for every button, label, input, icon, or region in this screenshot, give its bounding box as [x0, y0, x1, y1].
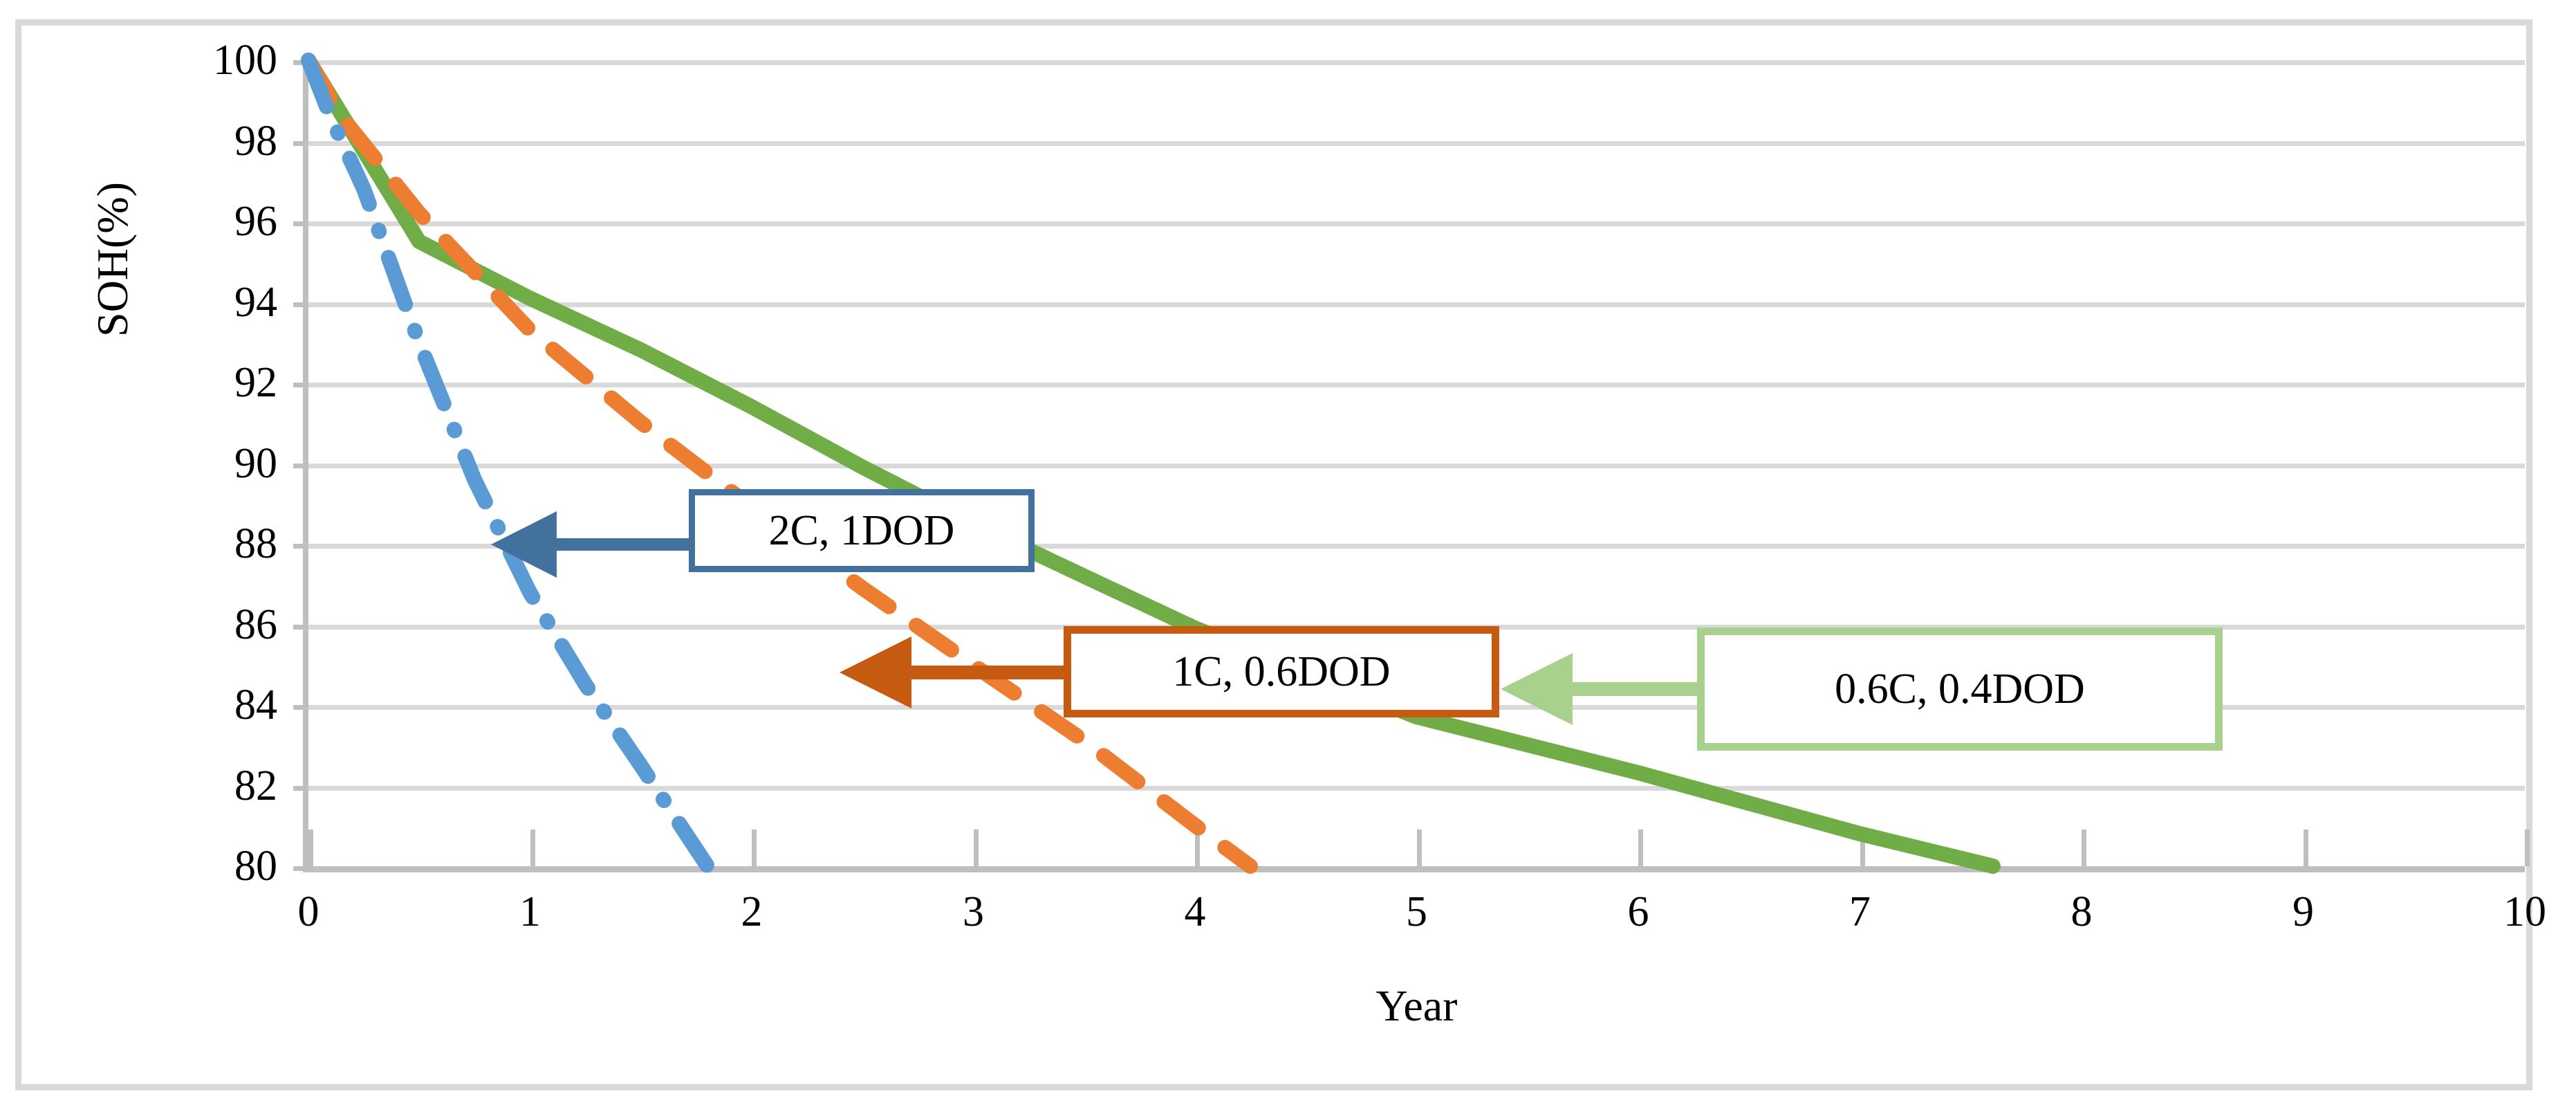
x-axis-title: Year	[308, 980, 2525, 1032]
xtick-label-9: 9	[2248, 890, 2359, 933]
xtick-label-10: 10	[2470, 890, 2576, 933]
callout-label-1c-06dod: 1C, 0.6DOD	[1172, 648, 1390, 697]
xtick-label-1: 1	[475, 890, 586, 933]
series-line-orange	[308, 60, 1250, 866]
series-line-blue	[308, 60, 707, 866]
xtick-10	[2525, 830, 2530, 866]
ytick-label-96: 96	[118, 200, 277, 243]
callout-arrow-green	[1484, 645, 1719, 733]
y-axis-line	[303, 60, 308, 866]
ytick-label-94: 94	[118, 281, 277, 324]
xtick-label-2: 2	[696, 890, 807, 933]
ytick-label-100: 100	[118, 39, 277, 82]
series-layer	[308, 60, 2525, 873]
y-axis-title: SOH(%)	[87, 60, 138, 337]
xtick-label-0: 0	[253, 890, 364, 933]
callout-arrow-orange	[822, 629, 1071, 716]
ytick-label-80: 80	[118, 845, 277, 888]
ytick-label-98: 98	[118, 120, 277, 163]
callout-box-2c-1dod[interactable]: 2C, 1DOD	[689, 489, 1035, 572]
ytick-label-86: 86	[118, 603, 277, 646]
callout-label-2c-1dod: 2C, 1DOD	[769, 506, 955, 556]
xtick-label-5: 5	[1362, 890, 1472, 933]
chart-outer-frame: 100 98 96 94 92 90 88 86 84 82 80 0	[15, 19, 2532, 1090]
ytick-label-84: 84	[118, 684, 277, 726]
ytick-label-92: 92	[118, 361, 277, 404]
xtick-label-4: 4	[1140, 890, 1250, 933]
ytick-label-88: 88	[118, 522, 277, 565]
plot-area: 100 98 96 94 92 90 88 86 84 82 80 0	[308, 60, 2525, 866]
callout-label-06c-04dod: 0.6C, 0.4DOD	[1835, 665, 2085, 714]
xtick-label-7: 7	[1805, 890, 1916, 933]
ytick-label-90: 90	[118, 442, 277, 485]
chart-screenshot: 100 98 96 94 92 90 88 86 84 82 80 0	[0, 0, 2576, 1118]
callout-box-06c-04dod[interactable]: 0.6C, 0.4DOD	[1697, 627, 2223, 751]
callout-box-1c-06dod[interactable]: 1C, 0.6DOD	[1064, 626, 1499, 717]
xtick-label-3: 3	[918, 890, 1029, 933]
callout-arrow-blue	[470, 503, 698, 586]
xtick-label-8: 8	[2026, 890, 2137, 933]
ytick-label-82: 82	[118, 764, 277, 807]
xtick-label-6: 6	[1583, 890, 1694, 933]
